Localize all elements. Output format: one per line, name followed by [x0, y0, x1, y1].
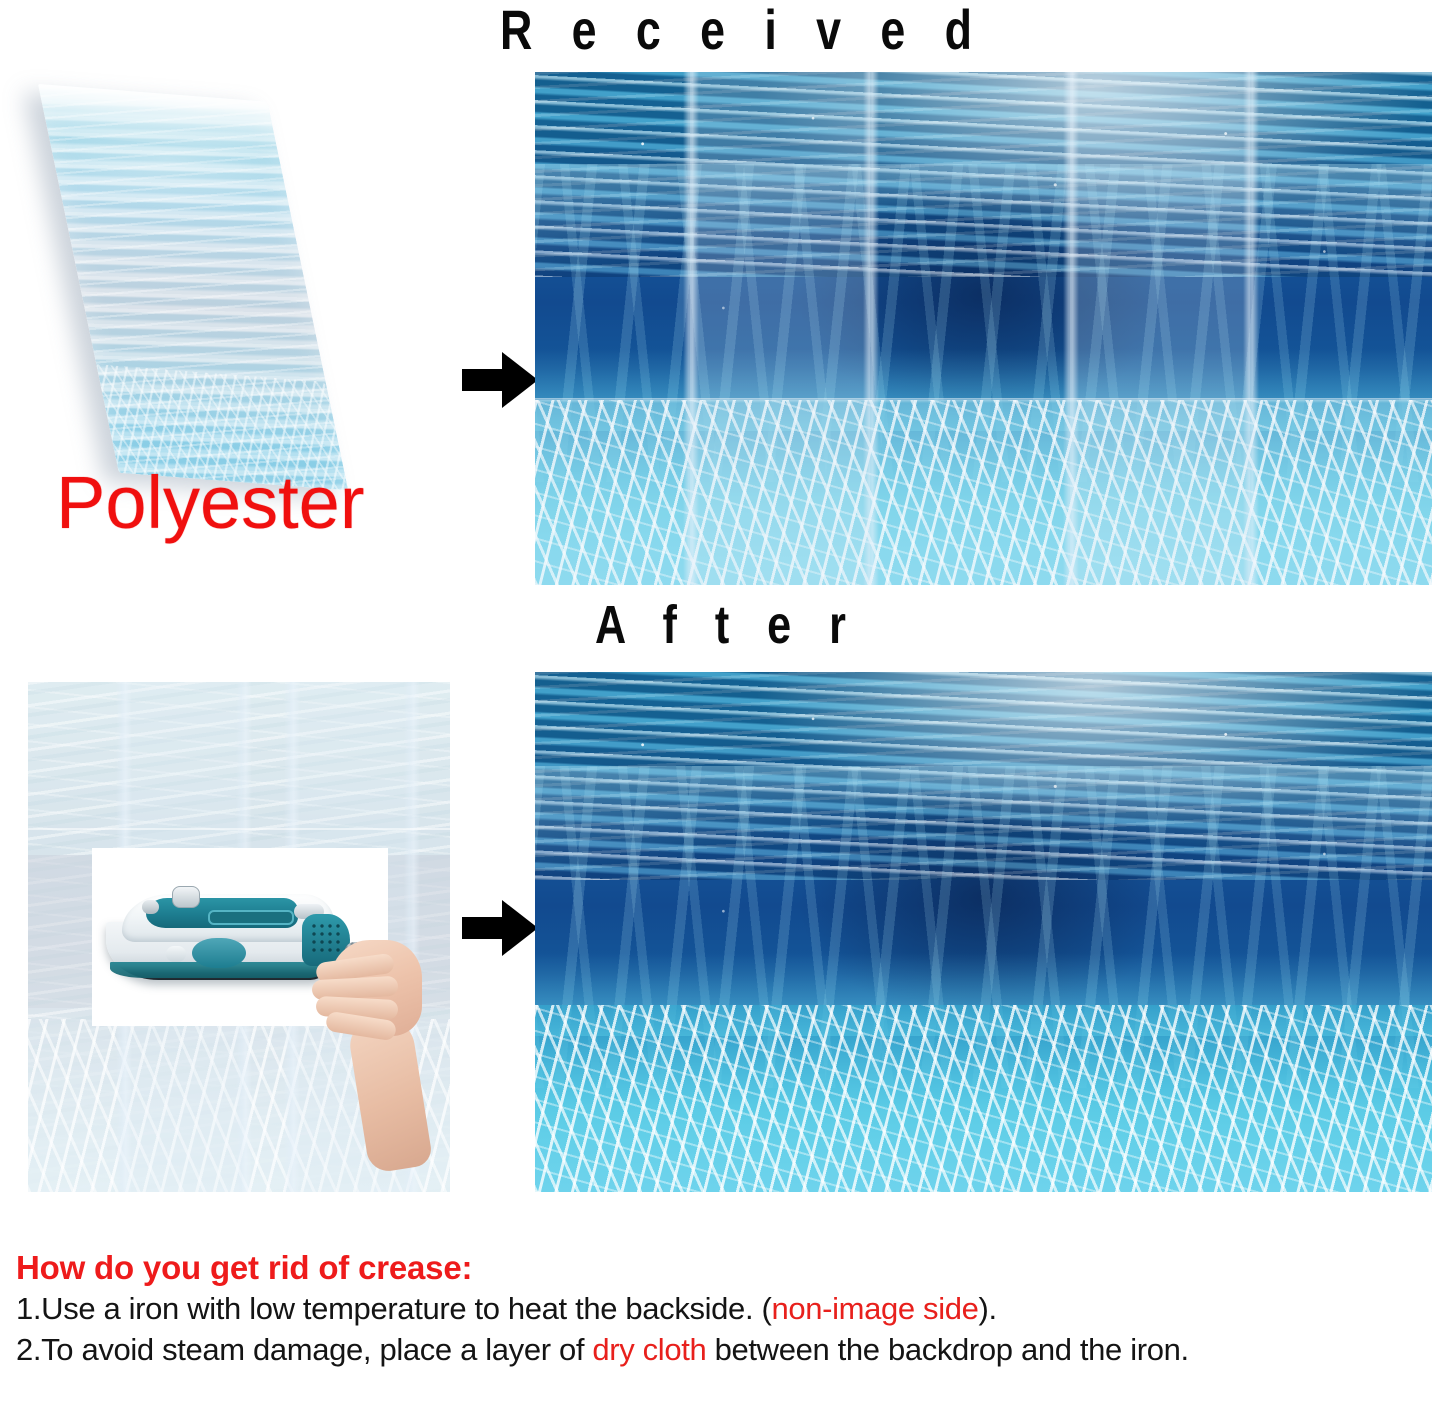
iron-spray-button	[166, 946, 186, 962]
iron-spray-knob	[142, 900, 159, 914]
polyester-fabric-photo	[8, 70, 438, 500]
instruction-step-1: 1.Use a iron with low temperature to hea…	[16, 1289, 1426, 1330]
arrow-shaft	[462, 369, 506, 391]
iron-temperature-dial	[192, 938, 246, 968]
arrow-shaft	[462, 917, 506, 939]
received-backdrop-photo	[535, 72, 1432, 585]
after-backdrop-photo	[535, 672, 1432, 1192]
arrow-head	[502, 900, 538, 956]
right-arrow-icon-2	[462, 900, 538, 956]
received-heading: R e c e i v e d	[500, 2, 985, 58]
step2-highlight: dry cloth	[592, 1332, 706, 1367]
instruction-step-2: 2.To avoid steam damage, place a layer o…	[16, 1330, 1426, 1371]
right-arrow-icon	[462, 352, 538, 408]
material-label: Polyester	[56, 466, 364, 540]
step1-highlight: non-image side	[771, 1291, 978, 1326]
step2-prefix: 2.To avoid steam damage, place a layer o…	[16, 1332, 592, 1367]
hand-illustration	[308, 940, 434, 1170]
bubbles	[535, 672, 1432, 1192]
instructions-block: How do you get rid of crease: 1.Use a ir…	[16, 1248, 1426, 1371]
step1-prefix: 1.Use a iron with low temperature to hea…	[16, 1291, 771, 1326]
bubbles	[535, 72, 1432, 585]
iron-handle	[146, 898, 298, 928]
after-heading: A f t e r	[595, 598, 859, 652]
fabric-swatch-shape	[38, 84, 348, 490]
iron-steam-knob	[172, 886, 200, 908]
step1-suffix: ).	[979, 1291, 997, 1326]
iron-icon	[106, 894, 342, 980]
step2-suffix: between the backdrop and the iron.	[706, 1332, 1188, 1367]
steam-iron-photo	[92, 848, 388, 1026]
instructions-title: How do you get rid of crease:	[16, 1248, 1426, 1289]
iron-handle-slot	[208, 910, 294, 925]
arrow-head	[502, 352, 538, 408]
